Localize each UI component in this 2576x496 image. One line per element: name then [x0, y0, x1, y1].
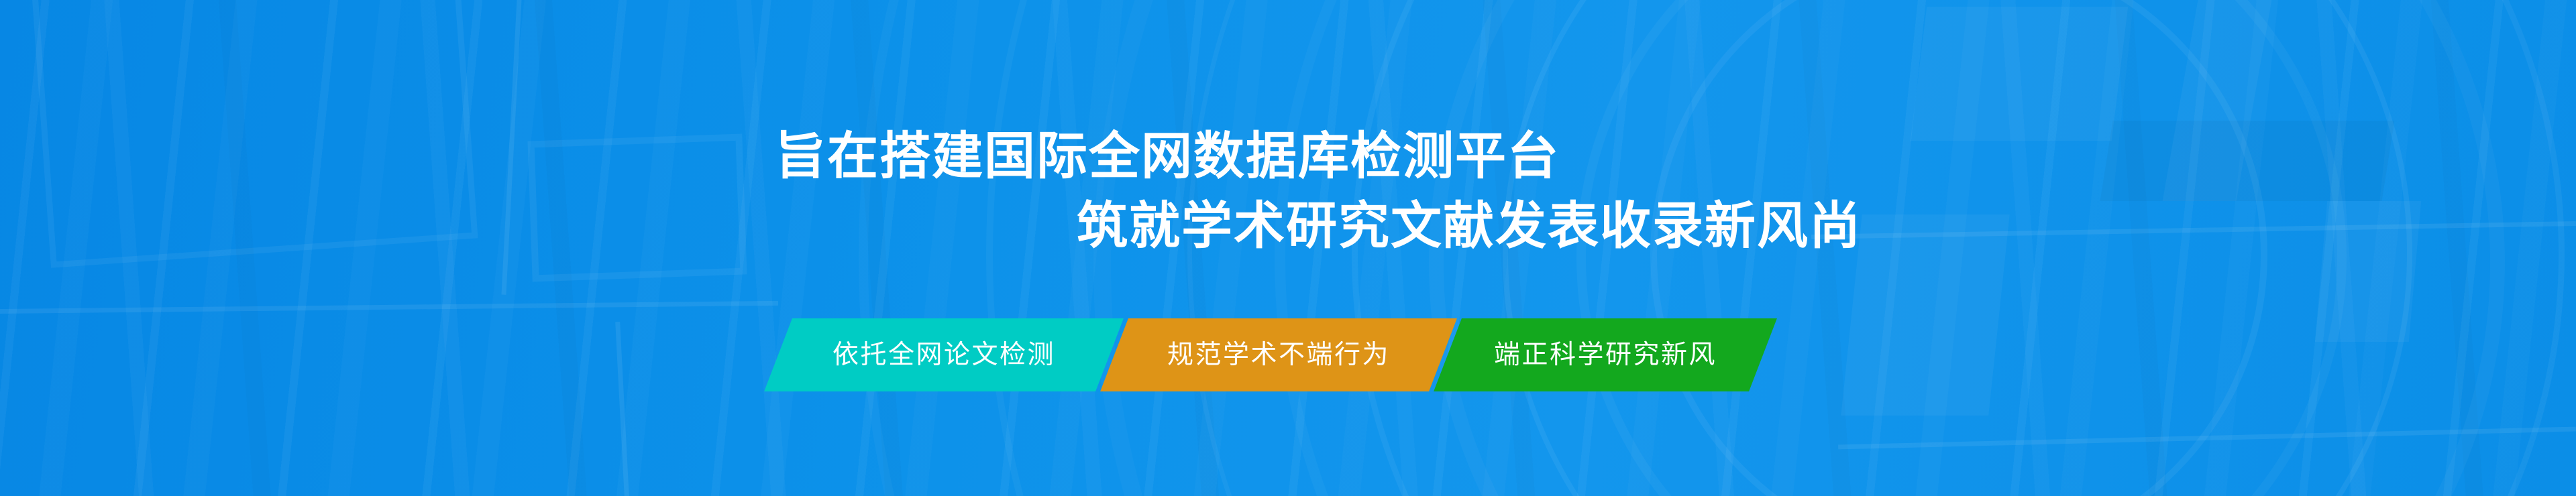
tag-academic-misconduct[interactable]: 规范学术不端行为	[1100, 318, 1457, 391]
feature-tag-strip: 依托全网论文检测 规范学术不端行为 端正科学研究新风	[778, 318, 1763, 391]
tag-plagiarism-detection[interactable]: 依托全网论文检测	[764, 318, 1124, 391]
tag-academic-misconduct-label: 规范学术不端行为	[1167, 342, 1390, 368]
grid-line-right-h2	[1838, 427, 2576, 450]
hero-banner: 旨在搭建国际全网数据库检测平台 筑就学术研究文献发表收录新风尚 依托全网论文检测…	[0, 0, 2576, 496]
headline: 旨在搭建国际全网数据库检测平台 筑就学术研究文献发表收录新风尚	[0, 122, 1878, 261]
grid-fill-right-1	[1911, 7, 2129, 141]
grid-line-left-h1	[0, 301, 778, 314]
headline-line-2: 筑就学术研究文献发表收录新风尚	[0, 192, 1878, 261]
grid-fill-right-4	[2315, 201, 2421, 342]
tag-plagiarism-detection-label: 依托全网论文检测	[833, 342, 1055, 368]
grid-line-left-v2	[615, 322, 631, 496]
headline-line-1: 旨在搭建国际全网数据库检测平台	[0, 122, 1878, 192]
tag-research-integrity[interactable]: 端正科学研究新风	[1434, 318, 1777, 391]
tag-research-integrity-label: 端正科学研究新风	[1494, 342, 1717, 368]
